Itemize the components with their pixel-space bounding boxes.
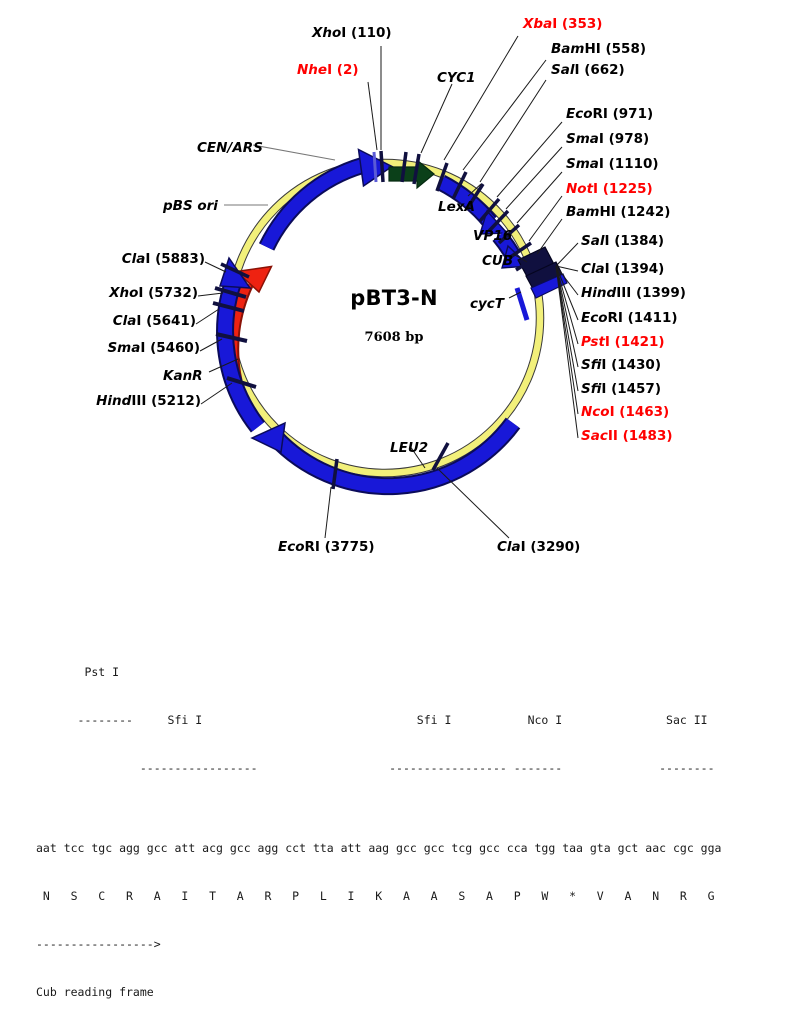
site-label-nhei-2: NheI (2) [297,63,359,78]
site-label-ecori-3775: EcoRI (3775) [278,540,375,555]
feature-label-cyc1: CYC1 [437,70,476,86]
site-enzyme-rest: I (353) [552,16,602,32]
site-label-ecori-1411: EcoRI (1411) [581,311,678,326]
tick-nhei [374,152,376,182]
site-enzyme-rest: RI (1411) [608,310,678,326]
site-enzyme-rest: I (1421) [605,334,665,350]
site-enzyme-rest: II (1483) [608,428,673,444]
mcs-sequence-panel: Pst I -------- Sfi I Sfi I Nco I Sac II … [36,632,721,1016]
site-enzyme-italic: Nco [581,404,610,420]
site-enzyme-rest: RI (3775) [305,539,375,555]
site-enzyme-italic: Eco [278,539,305,555]
site-label-smai-1110: SmaI (1110) [566,157,659,172]
site-enzyme-italic: Cla [113,313,137,329]
seq-line-codons: aat tcc tgc agg gcc att acg gcc agg cct … [36,840,721,856]
seq-line-aminoacids: N S C R A I T A R P L I K A A S A P W * … [36,888,721,904]
site-enzyme-italic: Sfi [581,357,601,373]
site-enzyme-rest: I (5641) [136,313,196,329]
tick-xhoi-110 [381,151,383,182]
site-enzyme-italic: Xho [109,285,138,301]
site-enzyme-italic: Sac [581,428,608,444]
site-enzyme-rest: I (662) [574,62,624,78]
feature-label-cen-ars: CEN/ARS [197,140,263,156]
site-enzyme-italic: Cla [122,251,146,267]
site-label-noti-1225: NotI (1225) [566,182,653,197]
site-label-xbai-353: XbaI (353) [523,17,602,32]
seq-line-enzymes-mid: -------- Sfi I Sfi I Nco I Sac II [36,712,721,728]
site-enzyme-rest: I (978) [599,131,649,147]
plasmid-map: pBT3-N 7608 bp CEN/ARS pBS ori CYC1 LexA… [0,0,788,612]
site-enzyme-italic: Xba [523,16,552,32]
site-label-xhoi-110: XhoI (110) [312,26,392,41]
site-enzyme-italic: Sfi [581,381,601,397]
site-enzyme-italic: Sal [581,233,604,249]
feature-label-vp16: VP16 [473,228,512,244]
site-enzyme-rest: HI (558) [584,41,646,57]
site-enzyme-italic: Cla [581,261,605,277]
site-enzyme-rest: I (1457) [601,381,661,397]
site-enzyme-italic: Bam [566,204,599,220]
site-enzyme-italic: Xho [312,25,341,41]
site-enzyme-rest: I (2) [327,62,358,78]
site-enzyme-rest: RI (971) [593,106,654,122]
site-enzyme-rest: I (1394) [605,261,665,277]
seq-line-reading-frame-label: Cub reading frame [36,984,721,1000]
feature-arcs [220,150,567,487]
site-label-xhoi-5732: XhoI (5732) [48,286,198,301]
site-enzyme-rest: III (5212) [131,393,201,409]
feature-label-lexa: LexA [438,199,475,215]
feature-label-pbs-ori: pBS ori [163,198,218,214]
site-enzyme-italic: Hind [96,393,131,409]
site-enzyme-italic: Sma [107,340,140,356]
site-enzyme-italic: Nhe [297,62,327,78]
site-label-sfii-1430: SfiI (1430) [581,358,661,373]
site-enzyme-italic: Eco [581,310,608,326]
site-label-sali-1384: SalI (1384) [581,234,664,249]
site-label-hindiii-5212: HindIII (5212) [41,394,201,409]
site-label-clai-3290: ClaI (3290) [497,540,580,555]
site-label-bamhi-558: BamHI (558) [551,42,646,57]
feature-label-cyct: cycT [470,296,504,312]
site-enzyme-italic: Pst [581,334,605,350]
site-enzyme-rest: I (5732) [138,285,198,301]
site-enzyme-italic: Hind [581,285,616,301]
site-label-clai-1394: ClaI (1394) [581,262,664,277]
site-enzyme-italic: Bam [551,41,584,57]
site-enzyme-rest: I (3290) [521,539,581,555]
site-enzyme-italic: Sma [566,156,599,172]
seq-line-reading-frame-bar: -----------------> [36,936,721,952]
seq-line-enzymes-top: Pst I [36,664,721,680]
site-enzyme-rest: I (1225) [593,181,653,197]
feature-label-kanr: KanR [163,368,203,384]
site-enzyme-rest: III (1399) [616,285,686,301]
site-enzyme-rest: I (5460) [140,340,200,356]
site-enzyme-rest: I (1463) [610,404,670,420]
site-label-clai-5641: ClaI (5641) [46,314,196,329]
site-label-sacii-1483: SacII (1483) [581,429,673,444]
site-enzyme-italic: Sal [551,62,574,78]
site-enzyme-italic: Cla [497,539,521,555]
site-enzyme-rest: I (110) [341,25,391,41]
site-enzyme-italic: Sma [566,131,599,147]
site-label-ncoi-1463: NcoI (1463) [581,405,669,420]
feature-label-cub: CUB [482,253,513,269]
site-label-smai-978: SmaI (978) [566,132,649,147]
seq-line-bars-left: ----------------- ----------------- ----… [36,760,721,776]
site-enzyme-rest: I (1384) [604,233,664,249]
feature-label-leu2: LEU2 [390,440,428,456]
site-label-hindiii-1399: HindIII (1399) [581,286,686,301]
site-enzyme-italic: Not [566,181,593,197]
site-label-psti-1421: PstI (1421) [581,335,665,350]
site-label-bamhi-1242: BamHI (1242) [566,205,670,220]
site-enzyme-rest: I (1430) [601,357,661,373]
site-label-smai-5460: SmaI (5460) [50,341,200,356]
site-label-sali-662: SalI (662) [551,63,625,78]
site-label-sfii-1457: SfiI (1457) [581,382,661,397]
site-enzyme-rest: I (1110) [599,156,659,172]
site-enzyme-rest: HI (1242) [599,204,670,220]
site-enzyme-rest: I (5883) [145,251,205,267]
site-label-ecori-971: EcoRI (971) [566,107,653,122]
site-enzyme-italic: Eco [566,106,593,122]
site-label-clai-5883: ClaI (5883) [55,252,205,267]
